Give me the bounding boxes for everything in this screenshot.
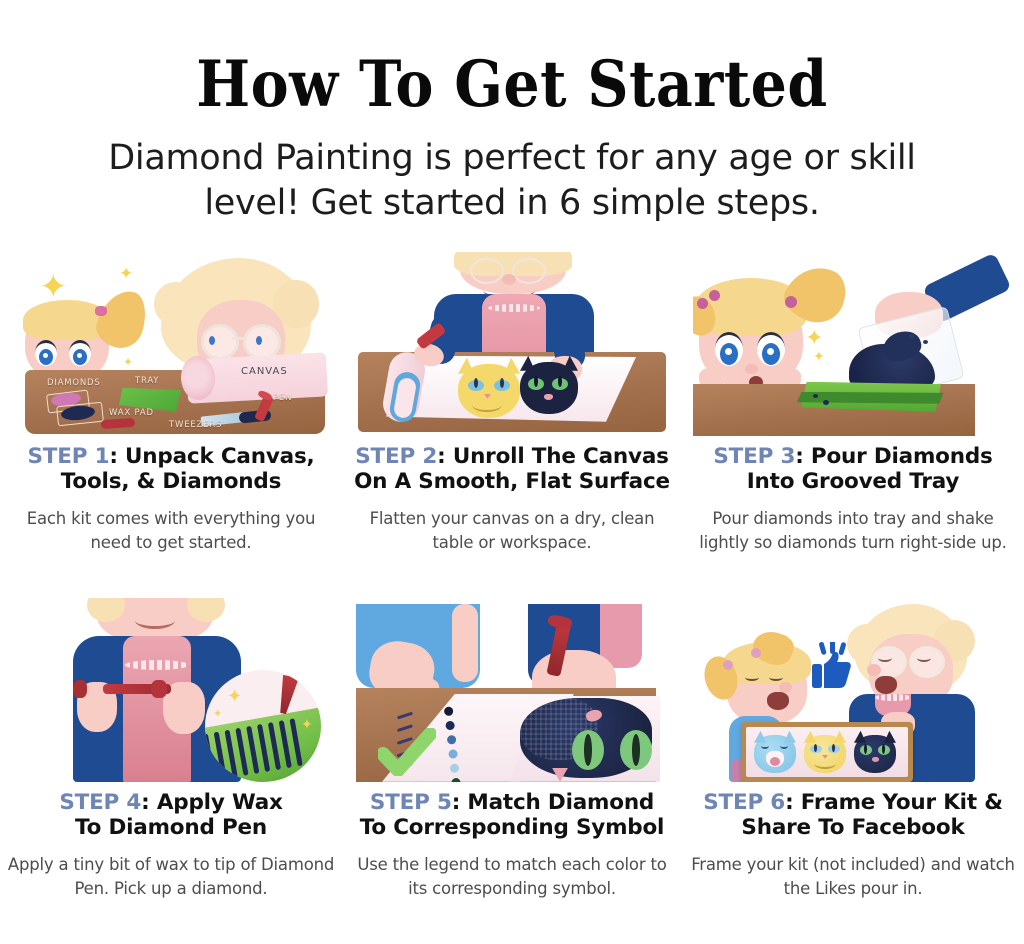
sparkle-icon: ✦: [119, 266, 133, 283]
step-1-colon: :: [109, 444, 117, 469]
hair-tie: [697, 298, 708, 309]
hair-tie: [723, 660, 733, 670]
sparkle-icon: ✦: [227, 688, 242, 706]
step-4-heading-line-2: To Diamond Pen: [75, 815, 267, 840]
legend-dot: [447, 748, 458, 759]
cat-pupil: [864, 744, 867, 754]
girl-eye-left: [35, 340, 57, 366]
step-2-heading-line-2: On A Smooth, Flat Surface: [354, 469, 670, 494]
girl-eye-right: [757, 332, 785, 366]
step-1-label: STEP 1: [27, 444, 109, 469]
step-5-heading-line-1: Match Diamond: [467, 790, 654, 815]
diamond-speck: [923, 340, 928, 344]
girl-nose: [745, 364, 758, 374]
step-3-description: Pour diamonds into tray and shake lightl…: [689, 507, 1018, 554]
child-arm: [452, 604, 478, 682]
step-5-label: STEP 5: [370, 790, 452, 815]
hair-tie: [751, 648, 761, 658]
hair-tie: [709, 290, 720, 301]
eyeglass-lens-right: [512, 258, 546, 284]
cat-pupil: [832, 744, 835, 752]
step-2-description: Flatten your canvas on a dry, clean tabl…: [348, 507, 677, 554]
grandma-eye-right: [917, 654, 931, 662]
step-4-label: STEP 4: [59, 790, 141, 815]
grandma-laughing-mouth: [875, 676, 897, 694]
cat-pupil: [534, 376, 538, 387]
girl-eye-left: [715, 332, 743, 366]
check-icon: [378, 728, 436, 776]
step-3-heading-line-2: Into Grooved Tray: [747, 469, 959, 494]
hair-tie: [95, 306, 107, 316]
sparkle-icon: ✦: [123, 356, 133, 368]
framed-canvas: [746, 727, 908, 777]
step-4-heading-line-1: Apply Wax: [157, 790, 283, 815]
step-4-description: Apply a tiny bit of wax to tip of Diamon…: [7, 853, 336, 900]
cat-tongue-blue: [770, 757, 780, 766]
step-card-4: ✦ ✦ ✦ STEP 4: Apply Wax To Diamond Pen A…: [1, 598, 342, 944]
pen-label: PEN: [273, 393, 292, 403]
step-1-description: Each kit comes with everything you need …: [7, 507, 336, 554]
diamond-speck: [823, 400, 829, 405]
step-6-colon: :: [785, 790, 793, 815]
step-2-illustration: [352, 252, 672, 436]
sparkle-icon: ✦: [213, 708, 222, 719]
eyeglass-lens-left: [201, 324, 239, 360]
step-3-heading: STEP 3: Pour Diamonds Into Grooved Tray: [713, 444, 992, 495]
diamond-pen-tip: [151, 680, 167, 698]
step-5-heading-line-2: To Corresponding Symbol: [360, 815, 664, 840]
step-4-colon: :: [141, 790, 149, 815]
sparkle-icon: ✦: [39, 270, 68, 304]
picture-frame: [741, 722, 913, 782]
subtitle-line-1: Diamond Painting is perfect for any age …: [82, 136, 942, 181]
legend-dot: [446, 734, 457, 745]
step-card-1: ✦ ✦ ✦ ✦ ✦: [1, 252, 342, 598]
diamond-speck: [813, 394, 818, 398]
hair-tie: [785, 296, 797, 308]
step-3-label: STEP 3: [713, 444, 795, 469]
step-5-illustration: [352, 598, 672, 782]
step-1-heading: STEP 1: Unpack Canvas, Tools, & Diamonds: [27, 444, 314, 495]
cat-eye-blue-right: [780, 743, 788, 749]
steps-grid: ✦ ✦ ✦ ✦ ✦: [0, 252, 1024, 944]
page-subtitle: Diamond Painting is perfect for any age …: [82, 136, 942, 226]
cat-pupil: [882, 744, 885, 754]
step-1-heading-line-2: Tools, & Diamonds: [61, 469, 281, 494]
step-5-heading: STEP 5: Match Diamond To Corresponding S…: [360, 790, 664, 841]
header: How To Get Started Diamond Painting is p…: [0, 0, 1024, 226]
cat-pupil: [632, 734, 640, 766]
step-1-heading-line-1: Unpack Canvas,: [125, 444, 314, 469]
step-3-heading-line-1: Pour Diamonds: [811, 444, 993, 469]
tray-label: TRAY: [135, 376, 159, 386]
grandma-eye-left: [209, 336, 215, 345]
eyeglass-lens-left: [470, 258, 504, 284]
sparkle-icon: ✦: [813, 350, 825, 364]
legend-dot: [443, 705, 454, 716]
girl-eye-right: [769, 674, 783, 681]
grandma-eye-right: [256, 336, 262, 345]
canvas-label: CANVAS: [241, 366, 288, 377]
sparkle-icon: ✦: [301, 718, 313, 732]
cat-mouth-yellow: [814, 758, 836, 769]
page-title: How To Get Started: [0, 52, 1024, 117]
step-2-label: STEP 2: [355, 444, 437, 469]
step-4-heading: STEP 4: Apply Wax To Diamond Pen: [59, 790, 282, 841]
step-card-5: STEP 5: Match Diamond To Corresponding S…: [342, 598, 683, 944]
cat-pupil: [558, 376, 562, 387]
grandma-eye-left: [878, 654, 892, 662]
grandma-hair-curl: [154, 282, 198, 326]
cat-pupil: [584, 734, 592, 766]
step-4-illustration: ✦ ✦ ✦: [11, 598, 331, 782]
cat-nose-black: [544, 394, 553, 400]
cat-pupil: [500, 378, 504, 388]
step-6-label: STEP 6: [703, 790, 785, 815]
step-6-heading: STEP 6: Frame Your Kit & Share To Facebo…: [703, 790, 1003, 841]
step-1-illustration: ✦ ✦ ✦ ✦ ✦: [11, 252, 331, 436]
step-3-illustration: ✦ ✦: [693, 252, 1013, 436]
legend-dot: [444, 720, 455, 731]
cat-mouth-yellow: [472, 398, 502, 412]
subtitle-line-2: level! Get started in 6 simple steps.: [82, 181, 942, 226]
step-6-description: Frame your kit (not included) and watch …: [689, 853, 1018, 900]
step-2-heading: STEP 2: Unroll The Canvas On A Smooth, F…: [354, 444, 670, 495]
step-3-colon: :: [795, 444, 803, 469]
grandma-nose: [867, 664, 881, 676]
cat-eye-blue-left: [761, 743, 769, 749]
tray-edge: [797, 392, 945, 404]
step-6-heading-line-2: Share To Facebook: [741, 815, 964, 840]
step-card-6: STEP 6: Frame Your Kit & Share To Facebo…: [683, 598, 1024, 944]
infographic-page: How To Get Started Diamond Painting is p…: [0, 0, 1024, 922]
woman-smile: [135, 612, 175, 629]
pen-tip-closeup: [275, 674, 299, 714]
cat-pupil: [474, 378, 478, 388]
diamond-speck: [909, 334, 915, 339]
girl-eye-left: [745, 674, 759, 681]
pearl-necklace: [125, 660, 189, 670]
cat-pupil: [814, 744, 817, 752]
pearl-necklace: [488, 304, 540, 312]
girl-laughing-mouth: [767, 692, 789, 710]
legend-dot: [449, 762, 460, 773]
eyeglass-bridge: [232, 337, 245, 340]
step-5-description: Use the legend to match each color to it…: [348, 853, 677, 900]
step-6-illustration: [693, 598, 1013, 782]
cat-nose-black: [872, 757, 879, 762]
wax-pad-label: WAX PAD: [109, 408, 154, 418]
zoom-detail-circle: ✦ ✦ ✦: [205, 670, 321, 782]
diamond-pen-cap-left: [73, 680, 87, 698]
legend-dot: [450, 777, 461, 782]
step-2-colon: :: [437, 444, 445, 469]
diamonds-label: DIAMONDS: [47, 378, 101, 388]
tweezers-label: TWEEZERS: [169, 420, 222, 430]
facebook-thumbs-up-icon: [811, 642, 853, 694]
step-2-heading-line-1: Unroll The Canvas: [453, 444, 669, 469]
step-6-heading-line-1: Frame Your Kit &: [801, 790, 1003, 815]
step-card-3: ✦ ✦: [683, 252, 1024, 598]
step-5-colon: :: [452, 790, 460, 815]
pearl-necklace: [875, 694, 911, 701]
eyeglass-lens-right: [909, 646, 945, 678]
girl-eye-right: [69, 340, 91, 366]
sparkle-icon: ✦: [805, 328, 823, 350]
step-card-2: STEP 2: Unroll The Canvas On A Smooth, F…: [342, 252, 683, 598]
